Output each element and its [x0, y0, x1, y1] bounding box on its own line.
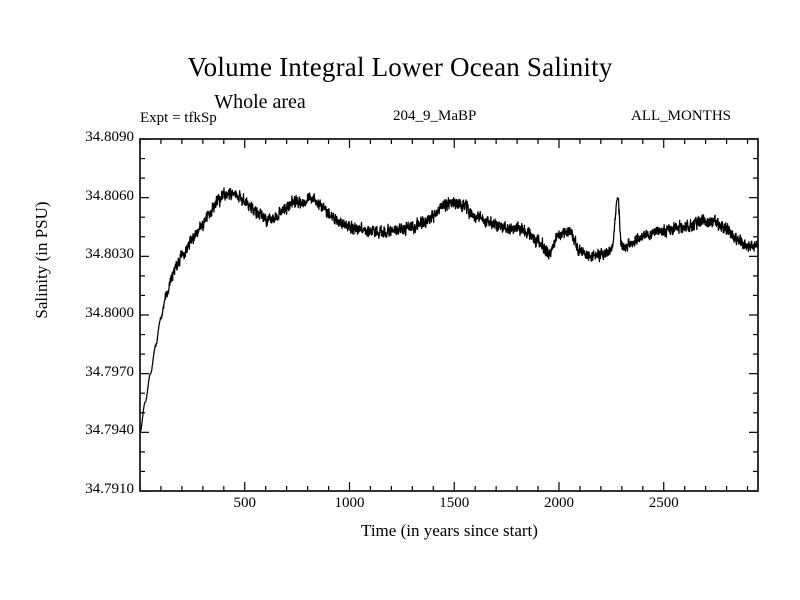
- data-line-salinity: [140, 188, 758, 432]
- plot-area: [0, 0, 800, 600]
